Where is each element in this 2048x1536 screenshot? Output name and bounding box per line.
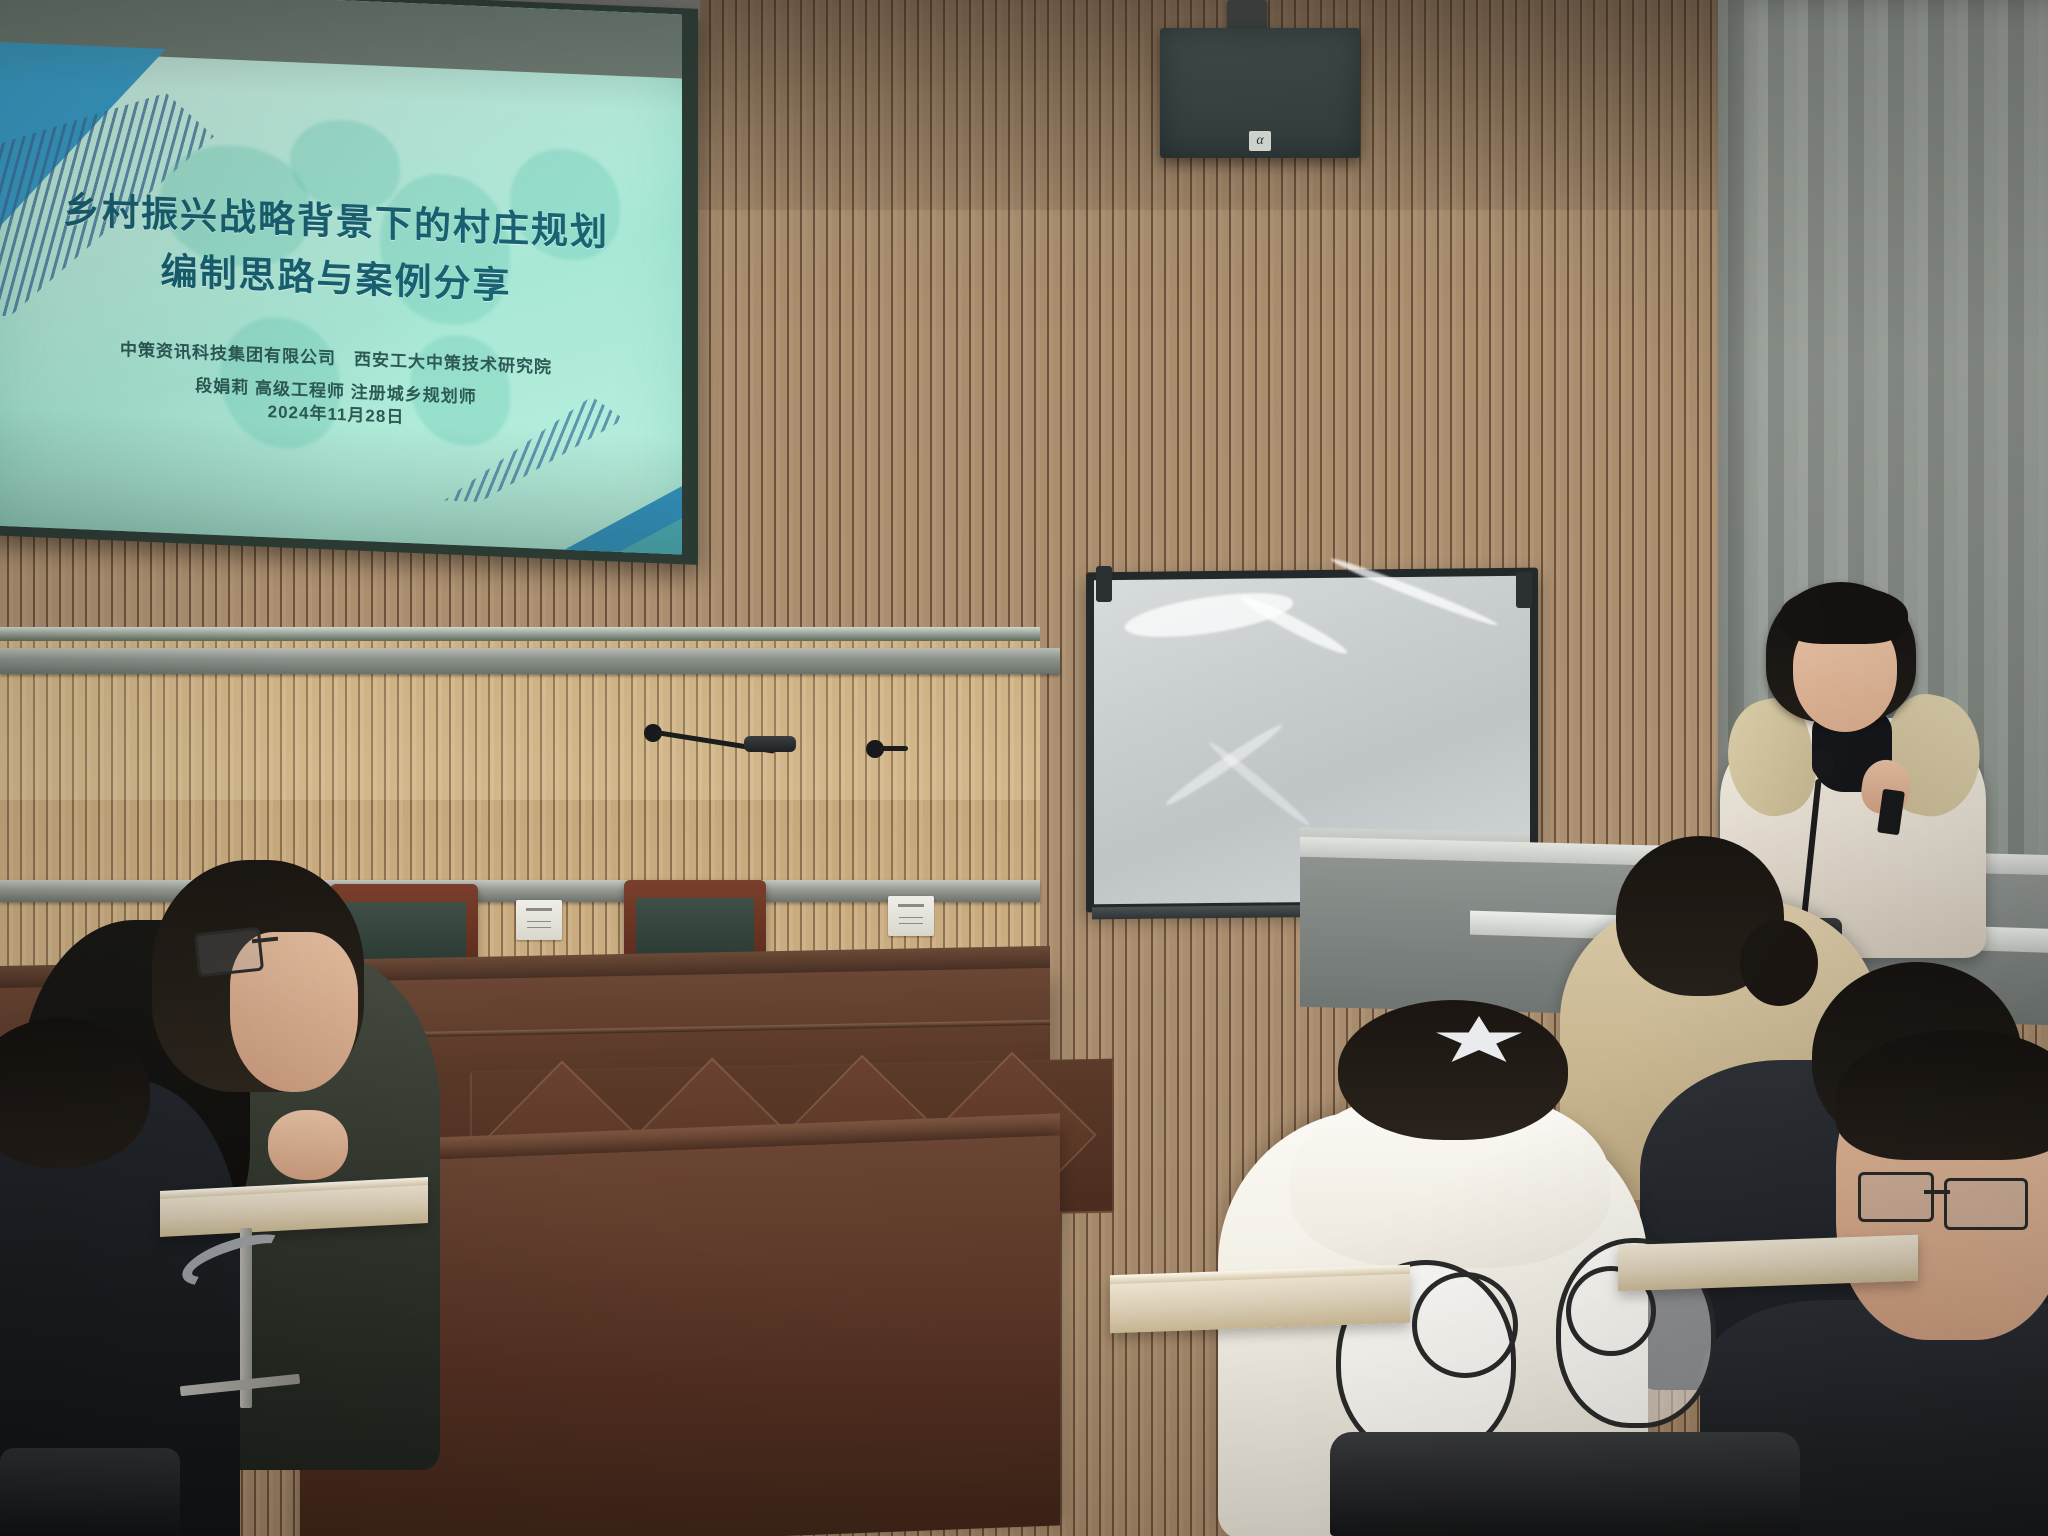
wall-top-trim <box>0 627 1040 641</box>
projection-screen: 乡村振兴战略背景下的村庄规划 编制思路与案例分享 中策资讯科技集团有限公司 西安… <box>0 0 682 555</box>
whiteboard-clip <box>1516 572 1532 608</box>
stage-chair-right <box>624 880 766 958</box>
seat-back-chair <box>1330 1432 1800 1536</box>
glasses-bridge-icon <box>1924 1190 1950 1194</box>
presenter-hair-fringe <box>1780 586 1908 644</box>
whiteboard-clip <box>1096 566 1112 602</box>
wall-speaker: α <box>1160 28 1360 158</box>
power-socket[interactable] <box>516 900 562 940</box>
glasses-icon <box>1944 1178 2028 1230</box>
glasses-icon <box>1858 1172 1934 1222</box>
wall-cable-rail-lower <box>0 880 1040 902</box>
power-socket[interactable] <box>888 896 934 936</box>
podium-microphone-left-base <box>744 736 796 752</box>
lecture-hall-photo: α 乡村振兴战略背景下的村庄规划 编制思路与案例分享 中策资讯科技集团有限公司 … <box>0 0 2048 1536</box>
wall-cable-rail-upper <box>0 648 1060 674</box>
foreground-chair <box>0 1448 180 1536</box>
podium-microphone-right-stem <box>878 746 908 751</box>
presenter-microphone-head <box>1812 750 1834 776</box>
glasses-icon <box>194 927 264 978</box>
audience-left-hand <box>268 1110 348 1180</box>
speaker-logo-icon: α <box>1249 131 1271 151</box>
hoodie-bear-head-icon <box>1412 1272 1518 1378</box>
slide-text-block: 乡村振兴战略背景下的村庄规划 编制思路与案例分享 中策资讯科技集团有限公司 西安… <box>0 0 682 555</box>
